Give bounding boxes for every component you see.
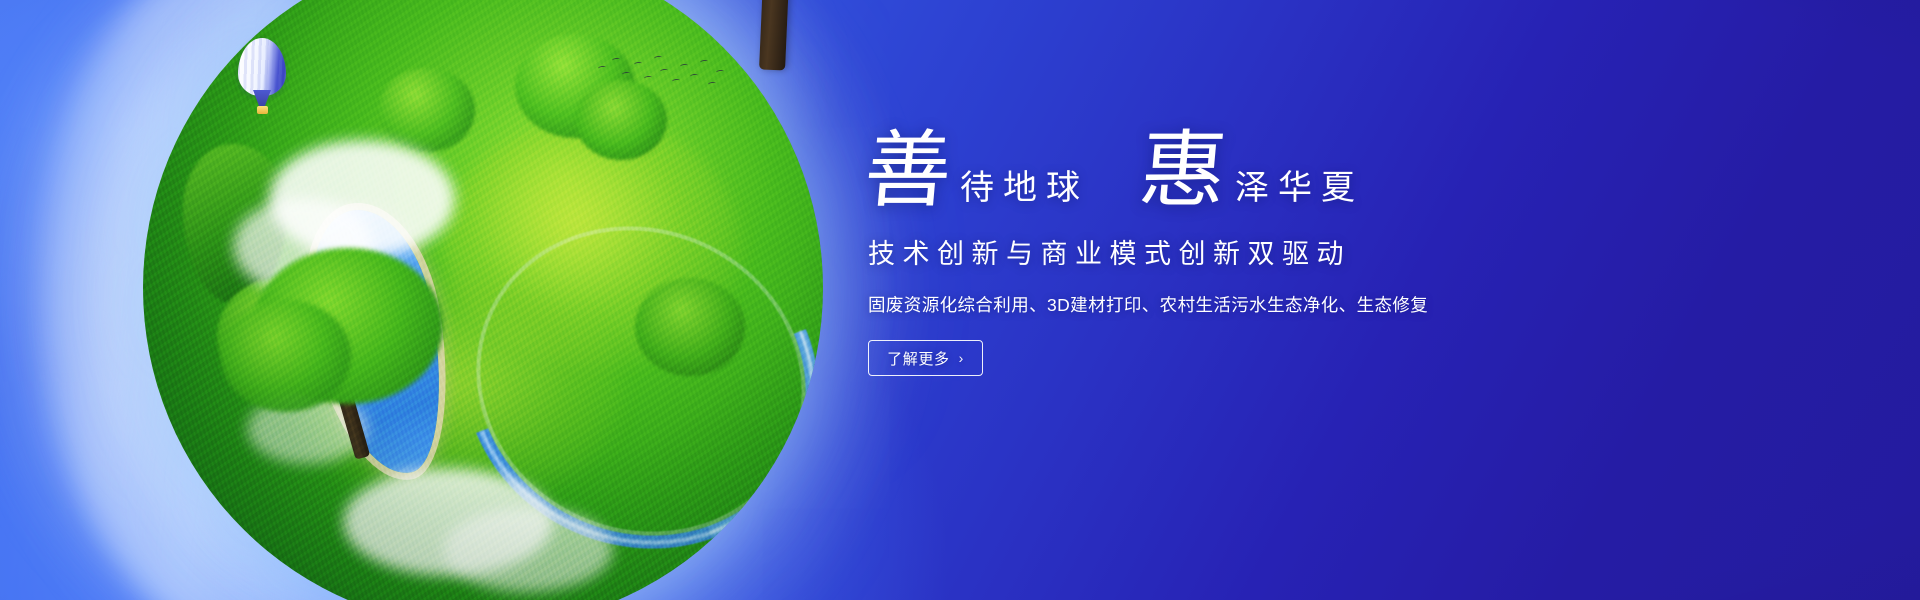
tree-trunk-icon bbox=[323, 340, 370, 459]
cloud-icon bbox=[247, 394, 367, 464]
balloon-basket bbox=[257, 106, 268, 114]
meadow-highlight bbox=[443, 118, 743, 368]
banner-copy: 善 待地球 惠 泽华夏 技术创新与商业模式创新双驱动 固废资源化综合利用、3D建… bbox=[862, 120, 1602, 376]
tree-canopy-icon bbox=[217, 278, 343, 394]
banner-subtitle: 技术创新与商业模式创新双驱动 bbox=[868, 238, 1602, 272]
bird-flock-icon bbox=[596, 52, 726, 98]
meadow-highlight bbox=[293, 278, 623, 508]
cloud-icon bbox=[443, 508, 613, 592]
chevron-right-icon: › bbox=[959, 350, 964, 366]
cloud-icon bbox=[269, 140, 455, 258]
river-highlight bbox=[415, 162, 823, 599]
headline-big-char-1: 善 bbox=[861, 133, 954, 212]
hot-air-balloon-icon bbox=[238, 38, 286, 118]
river-icon bbox=[409, 157, 823, 600]
tree-canopy-icon bbox=[253, 248, 443, 404]
lake-icon bbox=[299, 200, 457, 483]
headline-small-text-1: 待地球 bbox=[960, 172, 1089, 212]
hero-banner: 善 待地球 惠 泽华夏 技术创新与商业模式创新双驱动 固废资源化综合利用、3D建… bbox=[0, 0, 1920, 600]
balloon-envelope bbox=[238, 38, 286, 96]
forest-ridge-icon bbox=[183, 144, 287, 304]
learn-more-label: 了解更多 bbox=[887, 348, 949, 369]
page-title: 善 待地球 惠 泽华夏 bbox=[866, 120, 1602, 212]
headline-big-char-2: 惠 bbox=[1136, 133, 1229, 212]
learn-more-button[interactable]: 了解更多 › bbox=[868, 340, 983, 376]
banner-description: 固废资源化综合利用、3D建材打印、农村生活污水生态净化、生态修复 bbox=[868, 293, 1602, 318]
cloud-icon bbox=[343, 468, 553, 576]
tree-canopy-icon bbox=[379, 68, 475, 152]
lake-highlight bbox=[328, 245, 403, 401]
cloud-icon bbox=[233, 198, 373, 294]
tree-canopy-icon bbox=[635, 278, 745, 376]
tree-canopy-icon bbox=[221, 300, 351, 412]
headline-small-text-2: 泽华夏 bbox=[1235, 172, 1364, 212]
